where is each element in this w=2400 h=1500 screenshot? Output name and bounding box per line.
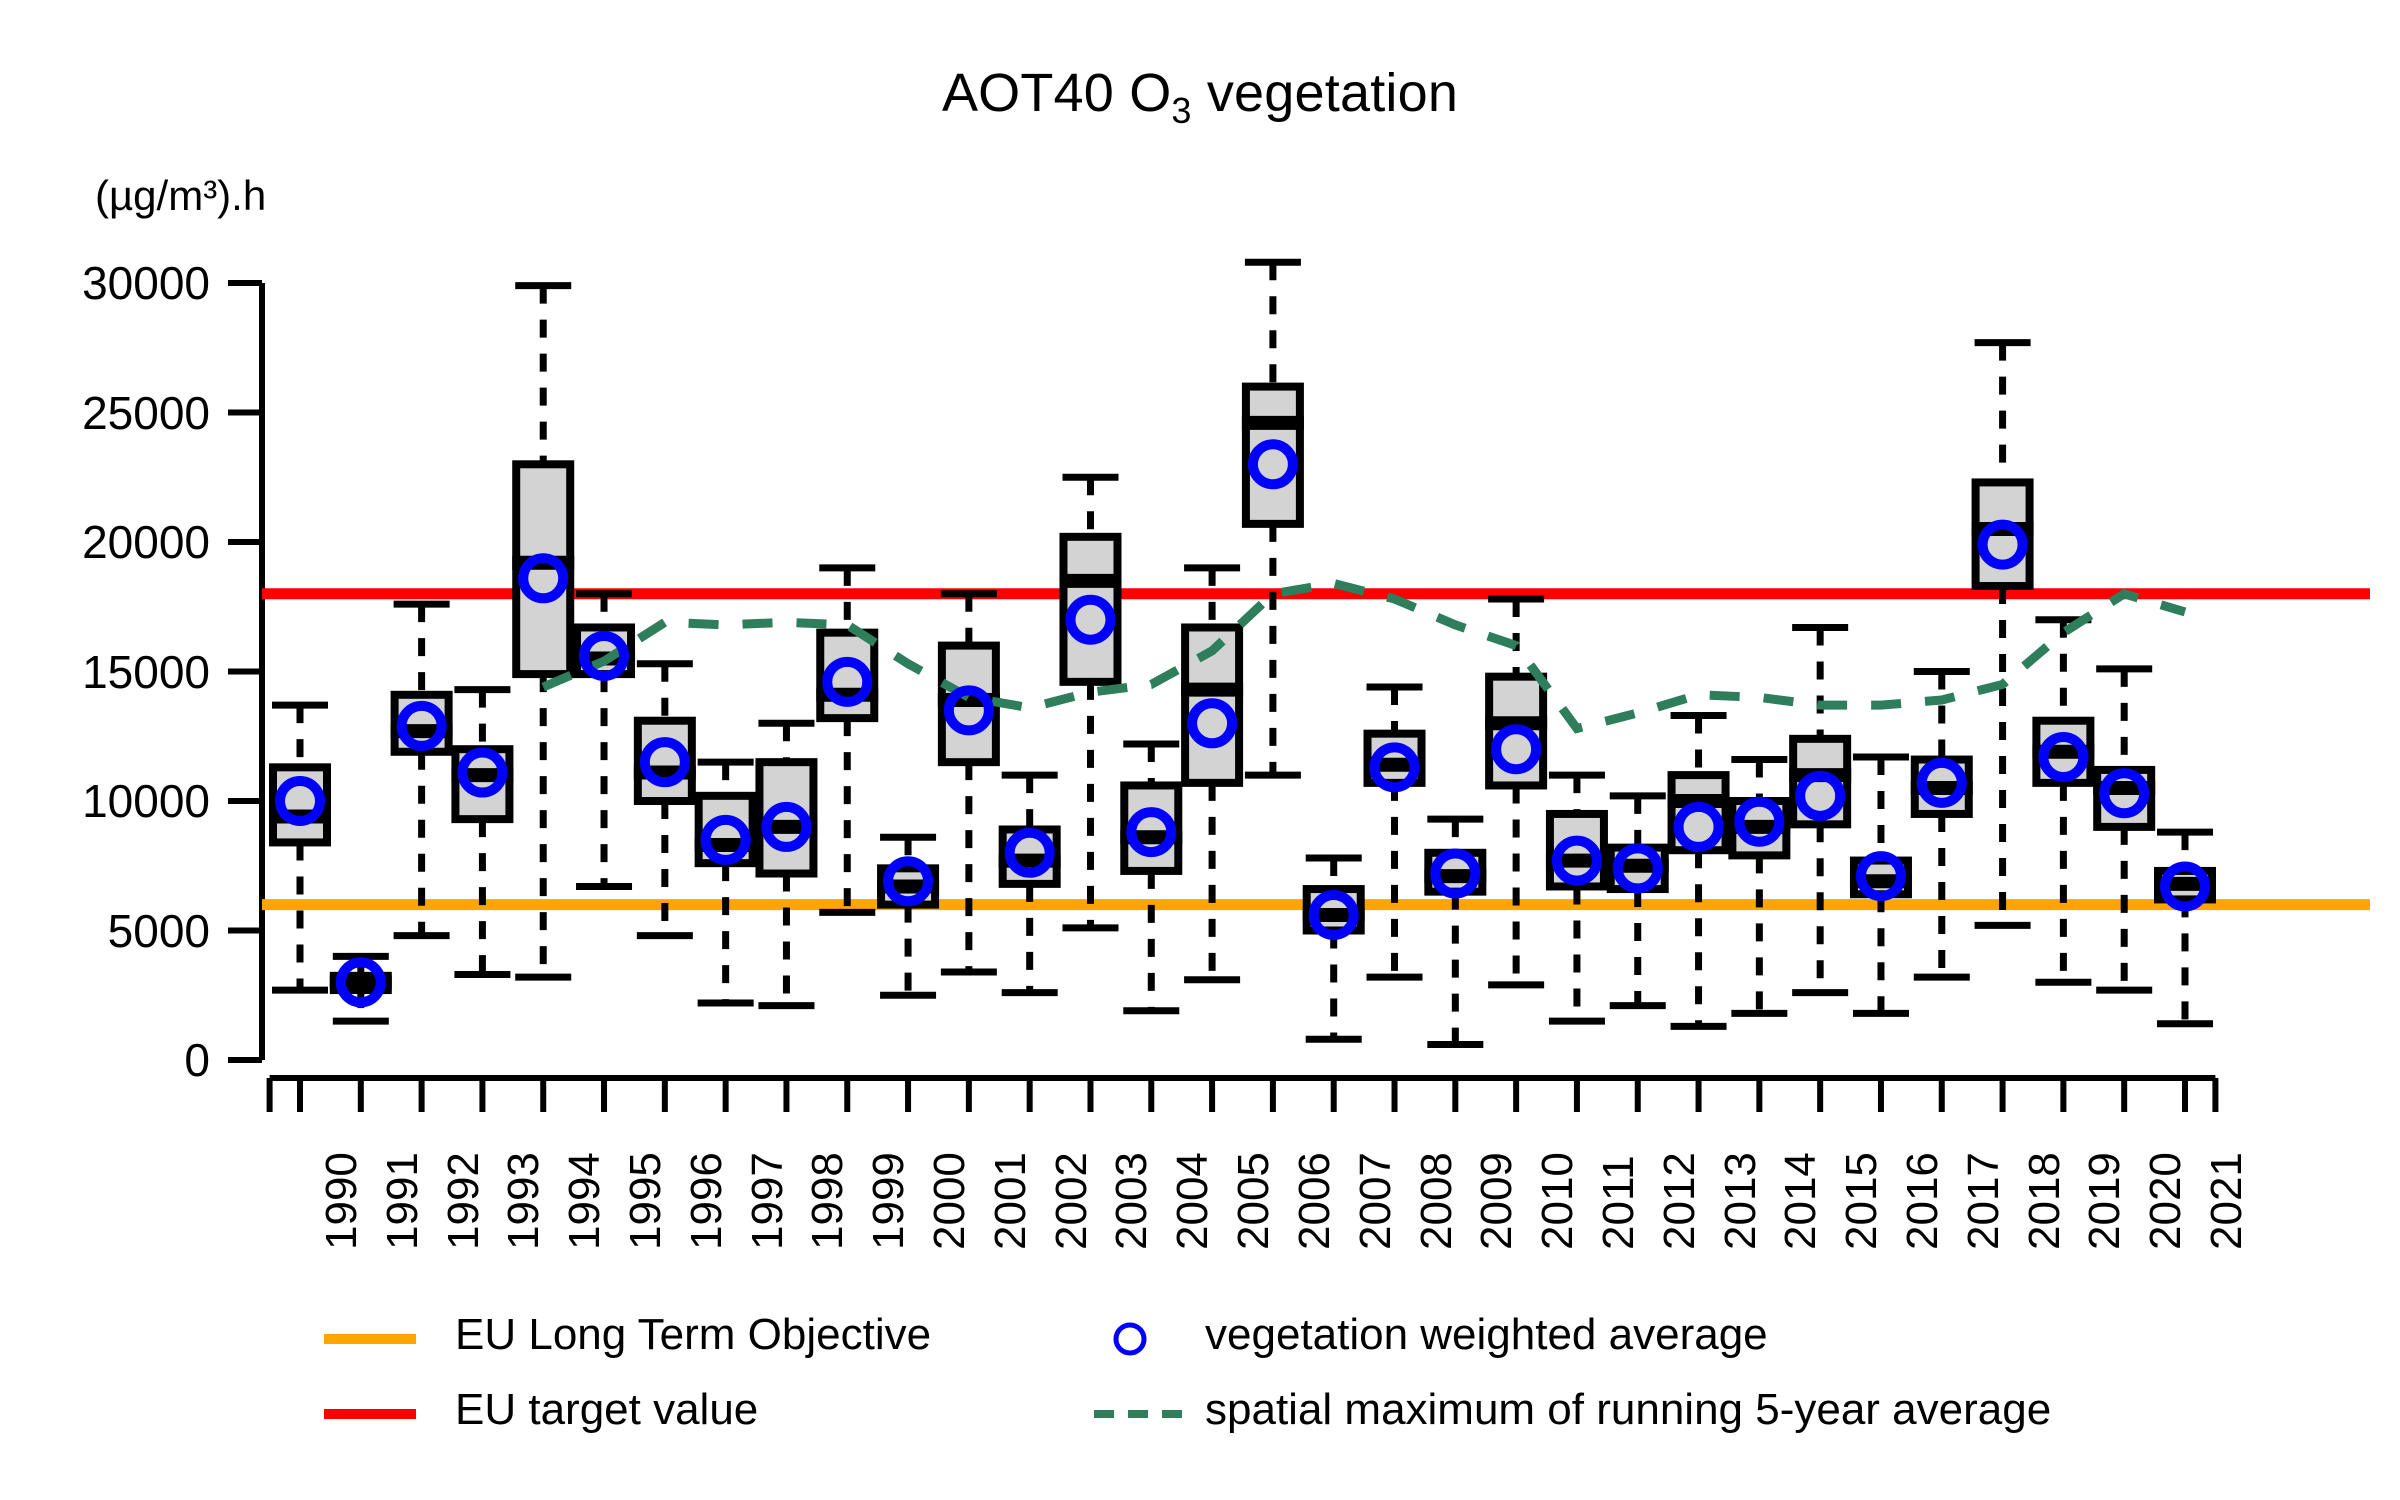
boxplot-2011 <box>1546 775 1608 1021</box>
x-axis-tick-label: 2011 <box>1594 1155 1644 1250</box>
boxplot-2020 <box>2093 669 2155 990</box>
boxplot-2013 <box>1668 716 1730 1027</box>
x-axis-tick-label: 1995 <box>621 1152 671 1250</box>
x-axis-tick-label: 2021 <box>2202 1152 2252 1250</box>
y-axis-tick-label: 15000 <box>0 645 210 699</box>
x-axis-tick-label: 1996 <box>682 1152 732 1250</box>
boxplot-1992 <box>391 604 453 936</box>
chart-legend: EU Long Term ObjectiveEU target valueveg… <box>0 1290 2400 1470</box>
boxplot-2003 <box>1059 477 1121 928</box>
boxplot-2015 <box>1789 627 1851 992</box>
x-axis-tick-label: 2018 <box>2020 1152 2070 1250</box>
legend-key-veg-avg <box>1090 1316 1190 1362</box>
x-axis-tick-label: 2003 <box>1107 1152 1157 1250</box>
x-axis-tick-label: 2002 <box>1047 1152 1097 1250</box>
x-axis-tick-label: 1990 <box>317 1152 367 1250</box>
y-axis-tick-label: 20000 <box>0 515 210 569</box>
x-axis-tick-label: 2005 <box>1229 1152 1279 1250</box>
legend-label-eu-lto: EU Long Term Objective <box>455 1310 931 1360</box>
x-axis-tick-label: 1991 <box>378 1152 428 1250</box>
boxplot-1997 <box>695 762 757 1003</box>
x-axis-tick-label: 1998 <box>803 1152 853 1250</box>
x-axis-tick-label: 2004 <box>1168 1152 1218 1250</box>
boxplot-2002 <box>999 775 1061 993</box>
boxplot-1998 <box>755 723 817 1005</box>
legend-key-eu-lto <box>320 1316 420 1362</box>
boxplot-2018 <box>1972 343 2034 926</box>
y-axis-tick-label: 5000 <box>0 904 210 958</box>
boxplot-2010 <box>1485 599 1547 985</box>
y-axis-tick-label: 10000 <box>0 774 210 828</box>
x-axis-tick-label: 2007 <box>1351 1152 1401 1250</box>
x-axis-tick-label: 2013 <box>1716 1152 1766 1250</box>
legend-label-run5: spatial maximum of running 5-year averag… <box>1205 1385 2051 1435</box>
boxplot-2001 <box>938 594 1000 972</box>
x-axis-tick-label: 2001 <box>986 1152 1036 1250</box>
boxplot-layer <box>269 262 2216 1044</box>
x-axis-tick-label: 2008 <box>1412 1152 1462 1250</box>
boxplot-1994 <box>512 286 574 978</box>
x-axis-tick-label: 1992 <box>439 1152 489 1250</box>
x-axis-tick-label: 1994 <box>560 1152 610 1250</box>
x-axis-tick-label: 2017 <box>1959 1152 2009 1250</box>
boxplot-2017 <box>1911 672 1973 978</box>
y-axis-tick-label: 0 <box>0 1033 210 1087</box>
legend-key-run5 <box>1090 1391 1190 1437</box>
boxplot-2006 <box>1242 262 1304 775</box>
x-axis-tick-label: 1993 <box>499 1152 549 1250</box>
boxplot-2007 <box>1303 858 1365 1039</box>
boxplot-1990 <box>269 705 331 990</box>
legend-label-veg-avg: vegetation weighted average <box>1205 1310 1768 1360</box>
x-axis-tick-label: 2010 <box>1533 1152 1583 1250</box>
x-axis-tick-label: 1999 <box>864 1152 914 1250</box>
x-axis-tick-label: 2006 <box>1290 1152 1340 1250</box>
y-axis-tick-label: 25000 <box>0 386 210 440</box>
boxplot-2019 <box>2032 620 2094 983</box>
legend-key-eu-target <box>320 1391 420 1437</box>
legend-label-eu-target: EU target value <box>455 1385 758 1435</box>
x-axis-tick-label: 2015 <box>1837 1152 1887 1250</box>
boxplot-2021 <box>2154 832 2216 1024</box>
y-axis-tick-label: 30000 <box>0 256 210 310</box>
legend-circle-swatch <box>1116 1325 1144 1353</box>
boxplot-2004 <box>1120 744 1182 1011</box>
x-axis-tick-label: 2000 <box>925 1152 975 1250</box>
x-axis-tick-label: 2020 <box>2141 1152 2191 1250</box>
chart-root: AOT40 O3 vegetation (µg/m³).h 0500010000… <box>0 0 2400 1500</box>
x-axis-tick-label: 2014 <box>1776 1152 1826 1250</box>
plot-area <box>0 0 2400 1500</box>
x-axis-tick-label: 2019 <box>2080 1152 2130 1250</box>
boxplot-2005 <box>1181 568 1243 980</box>
boxplot-2008 <box>1364 687 1426 977</box>
x-axis-tick-label: 1997 <box>743 1152 793 1250</box>
x-axis-tick-label: 2009 <box>1472 1152 1522 1250</box>
x-axis-tick-label: 2012 <box>1655 1152 1705 1250</box>
boxplot-1996 <box>634 664 696 936</box>
boxplot-1993 <box>451 690 513 975</box>
x-axis-tick-label: 2016 <box>1898 1152 1948 1250</box>
